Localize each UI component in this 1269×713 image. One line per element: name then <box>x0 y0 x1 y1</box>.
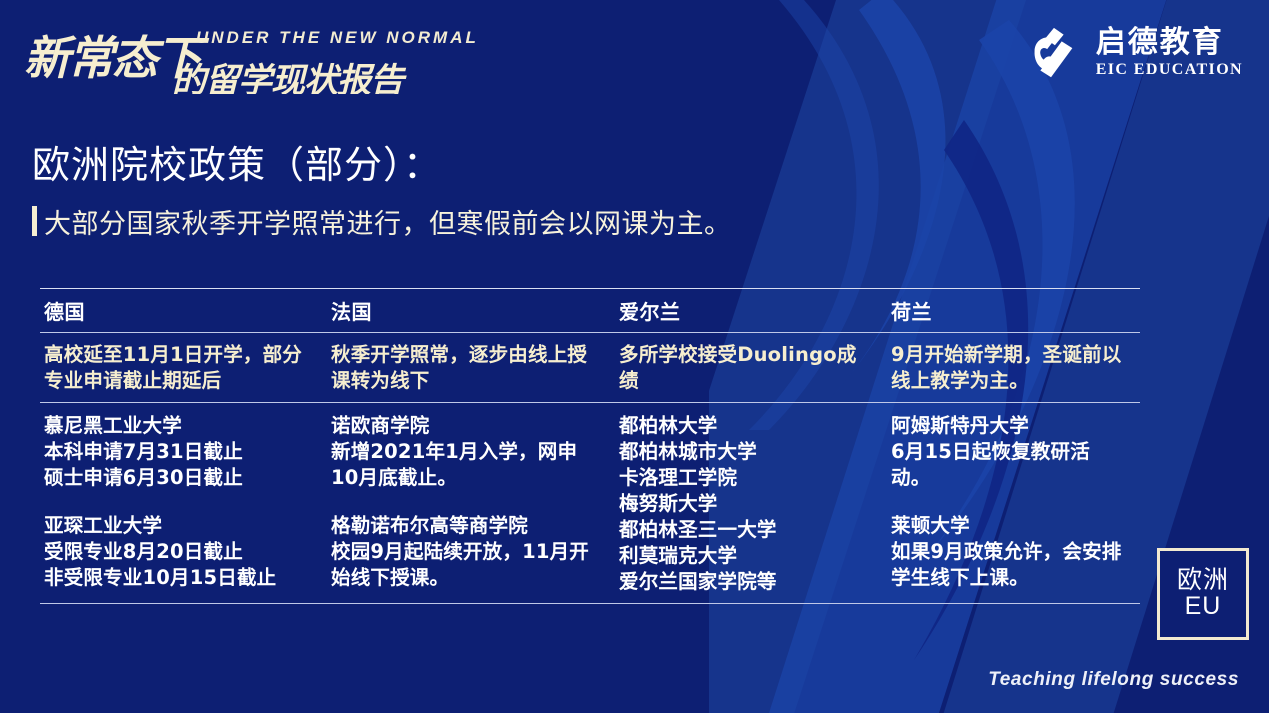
detail-line: 本科申请7月31日截止 <box>44 439 313 465</box>
page-subtitle-row: 大部分国家秋季开学照常进行，但寒假前会以网课为主。 <box>32 202 932 241</box>
region-badge-cn: 欧洲 <box>1177 567 1229 593</box>
detail-line: 硕士申请6月30日截止 <box>44 465 313 491</box>
detail-group: 格勒诺布尔高等商学院 校园9月起陆续开放，11月开始线下授课。 <box>331 513 601 591</box>
detail-group: 诺欧商学院 新增2021年1月入学，网申10月底截止。 <box>331 413 601 491</box>
detail-line: 阿姆斯特丹大学 <box>891 413 1126 439</box>
policy-cell-germany: 高校延至11月1日开学，部分专业申请截止期延后 <box>40 333 327 402</box>
policy-text: 多所学校接受Duolingo成绩 <box>619 342 873 393</box>
detail-line: 非受限专业10月15日截止 <box>44 565 313 591</box>
detail-line: 校园9月起陆续开放，11月开始线下授课。 <box>331 539 601 591</box>
detail-line: 受限专业8月20日截止 <box>44 539 313 565</box>
table-rule-bottom <box>40 603 1140 604</box>
detail-cell-germany: 慕尼黑工业大学 本科申请7月31日截止 硕士申请6月30日截止 亚琛工业大学 受… <box>40 403 327 602</box>
eic-logo-cn: 启德教育 <box>1096 27 1224 59</box>
detail-line: 都柏林城市大学 <box>619 439 873 465</box>
table-header-cell-france: 法国 <box>327 289 615 332</box>
eic-logo-en: EIC EDUCATION <box>1096 61 1243 79</box>
detail-cell-netherlands: 阿姆斯特丹大学 6月15日起恢复教研活动。 莱顿大学 如果9月政策允许，会安排学… <box>887 403 1140 602</box>
detail-line: 莱顿大学 <box>891 513 1126 539</box>
policy-text: 9月开始新学期，圣诞前以线上教学为主。 <box>891 342 1126 393</box>
eic-logo-mark <box>1021 22 1083 84</box>
column-header-label: 荷兰 <box>891 296 1126 325</box>
page-header: 新常态下 的留学现状报告 UNDER THE NEW NORMAL 启德教育 E… <box>0 0 1269 110</box>
column-header-label: 法国 <box>331 296 601 325</box>
detail-line: 卡洛理工学院 <box>619 465 873 491</box>
report-subtitle-en: UNDER THE NEW NORMAL <box>196 28 479 48</box>
detail-line: 慕尼黑工业大学 <box>44 413 313 439</box>
policy-text: 秋季开学照常，逐步由线上授课转为线下 <box>331 342 601 393</box>
detail-group: 亚琛工业大学 受限专业8月20日截止 非受限专业10月15日截止 <box>44 513 313 591</box>
policy-cell-netherlands: 9月开始新学期，圣诞前以线上教学为主。 <box>887 333 1140 402</box>
detail-line: 爱尔兰国家学院等 <box>619 569 873 595</box>
table-header-cell-germany: 德国 <box>40 289 327 332</box>
page-title: 欧洲院校政策（部分）： <box>32 142 932 190</box>
column-header-label: 爱尔兰 <box>619 296 873 325</box>
column-header-label: 德国 <box>44 296 313 325</box>
detail-line: 如果9月政策允许，会安排学生线下上课。 <box>891 539 1126 591</box>
region-badge: 欧洲 EU <box>1157 548 1249 640</box>
table-detail-row: 慕尼黑工业大学 本科申请7月31日截止 硕士申请6月30日截止 亚琛工业大学 受… <box>40 403 1140 602</box>
table-header-cell-ireland: 爱尔兰 <box>615 289 887 332</box>
eic-logo: 启德教育 EIC EDUCATION <box>1021 22 1243 84</box>
table-policy-row: 高校延至11月1日开学，部分专业申请截止期延后 秋季开学照常，逐步由线上授课转为… <box>40 333 1140 402</box>
table-header-cell-netherlands: 荷兰 <box>887 289 1140 332</box>
policy-table: 德国 法国 爱尔兰 荷兰 高校延至11月1日开学，部分专业申请截止期延后 秋季开… <box>40 288 1140 604</box>
detail-group: 莱顿大学 如果9月政策允许，会安排学生线下上课。 <box>891 513 1126 591</box>
detail-line: 利莫瑞克大学 <box>619 543 873 569</box>
policy-cell-france: 秋季开学照常，逐步由线上授课转为线下 <box>327 333 615 402</box>
detail-line: 梅努斯大学 <box>619 491 873 517</box>
wordmark-line2: 的留学现状报告 <box>172 61 407 94</box>
detail-line: 新增2021年1月入学，网申10月底截止。 <box>331 439 601 491</box>
page-subtitle: 大部分国家秋季开学照常进行，但寒假前会以网课为主。 <box>44 202 732 241</box>
detail-line: 诺欧商学院 <box>331 413 601 439</box>
detail-group: 都柏林大学 都柏林城市大学 卡洛理工学院 梅努斯大学 都柏林圣三一大学 利莫瑞克… <box>619 413 873 594</box>
policy-cell-ireland: 多所学校接受Duolingo成绩 <box>615 333 887 402</box>
detail-cell-france: 诺欧商学院 新增2021年1月入学，网申10月底截止。 格勒诺布尔高等商学院 校… <box>327 403 615 602</box>
title-block: 欧洲院校政策（部分）： 大部分国家秋季开学照常进行，但寒假前会以网课为主。 <box>32 142 932 241</box>
policy-text: 高校延至11月1日开学，部分专业申请截止期延后 <box>44 342 313 393</box>
brand-tagline: Teaching lifelong success <box>988 669 1239 691</box>
detail-group: 阿姆斯特丹大学 6月15日起恢复教研活动。 <box>891 413 1126 491</box>
table-header-row: 德国 法国 爱尔兰 荷兰 <box>40 289 1140 332</box>
detail-line: 亚琛工业大学 <box>44 513 313 539</box>
region-badge-en: EU <box>1185 593 1222 621</box>
detail-line: 6月15日起恢复教研活动。 <box>891 439 1126 491</box>
detail-line: 格勒诺布尔高等商学院 <box>331 513 601 539</box>
detail-line: 都柏林大学 <box>619 413 873 439</box>
detail-cell-ireland: 都柏林大学 都柏林城市大学 卡洛理工学院 梅努斯大学 都柏林圣三一大学 利莫瑞克… <box>615 403 887 602</box>
detail-line: 都柏林圣三一大学 <box>619 517 873 543</box>
subtitle-accent-bar <box>32 206 37 236</box>
detail-group: 慕尼黑工业大学 本科申请7月31日截止 硕士申请6月30日截止 <box>44 413 313 491</box>
